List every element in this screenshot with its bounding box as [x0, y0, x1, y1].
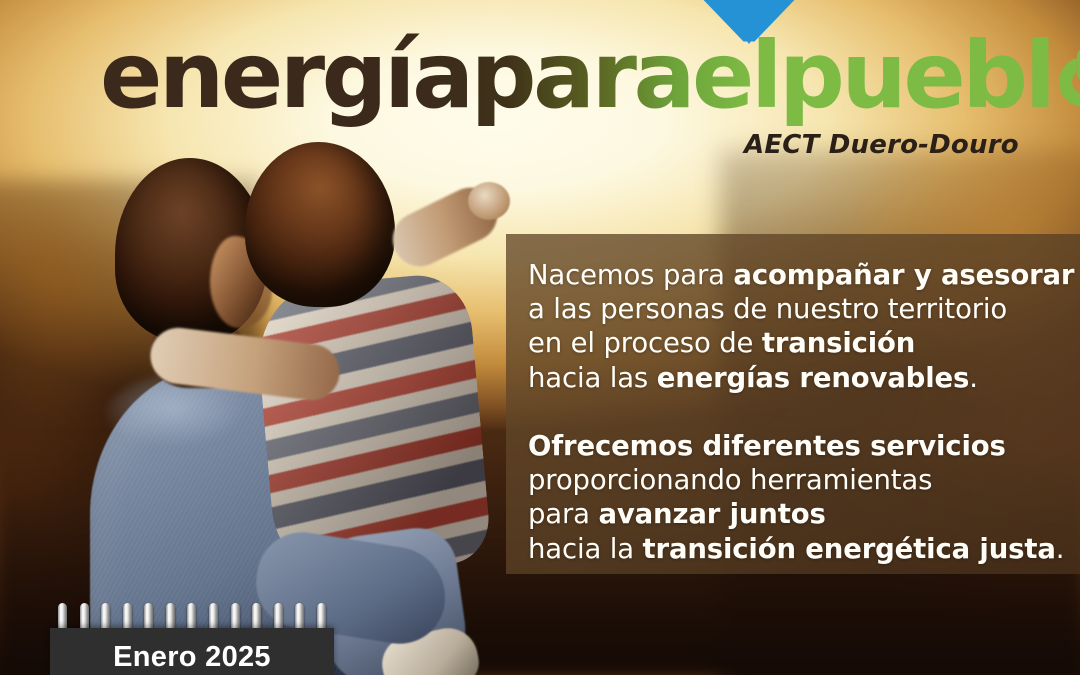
poster-root: energíaparaelpuebl AECT Duero-Douro Nace…	[0, 0, 1080, 675]
calendar-month-label: Enero 2025	[50, 641, 334, 674]
body-text: .	[1056, 533, 1065, 565]
body-text: a las personas de nuestro territorio	[528, 293, 1007, 325]
body-text: Nacemos para	[528, 259, 733, 291]
child-hand	[468, 182, 510, 220]
father-and-child-figure	[60, 140, 490, 675]
body-text: proporcionando herramientas	[528, 464, 932, 496]
body-text: .	[969, 362, 978, 394]
paragraph-2: Ofrecemos diferentes serviciosproporcion…	[528, 429, 1080, 566]
body-text: en el proceso de	[528, 327, 762, 359]
emphasis-text: energías renovables	[657, 362, 970, 394]
emphasis-text: avanzar juntos	[598, 498, 825, 530]
body-text: hacia las	[528, 362, 657, 394]
emphasis-text: acompañar y asesorar	[733, 259, 1074, 291]
paragraph-1: Nacemos para acompañar y asesorara las p…	[528, 258, 1080, 395]
calendar-widget: Enero 2025	[50, 603, 334, 675]
child-head	[245, 142, 395, 307]
body-text: para	[528, 498, 598, 530]
calendar-card: Enero 2025	[50, 628, 334, 675]
message-panel: Nacemos para acompañar y asesorara las p…	[506, 234, 1080, 574]
emphasis-text: Ofrecemos diferentes servicios	[528, 430, 1006, 462]
emphasis-text: transición	[762, 327, 915, 359]
emphasis-text: transición energética justa	[643, 533, 1056, 565]
body-text: hacia la	[528, 533, 643, 565]
child-striped-shirt	[253, 271, 492, 579]
shirt-stripes	[253, 271, 492, 579]
